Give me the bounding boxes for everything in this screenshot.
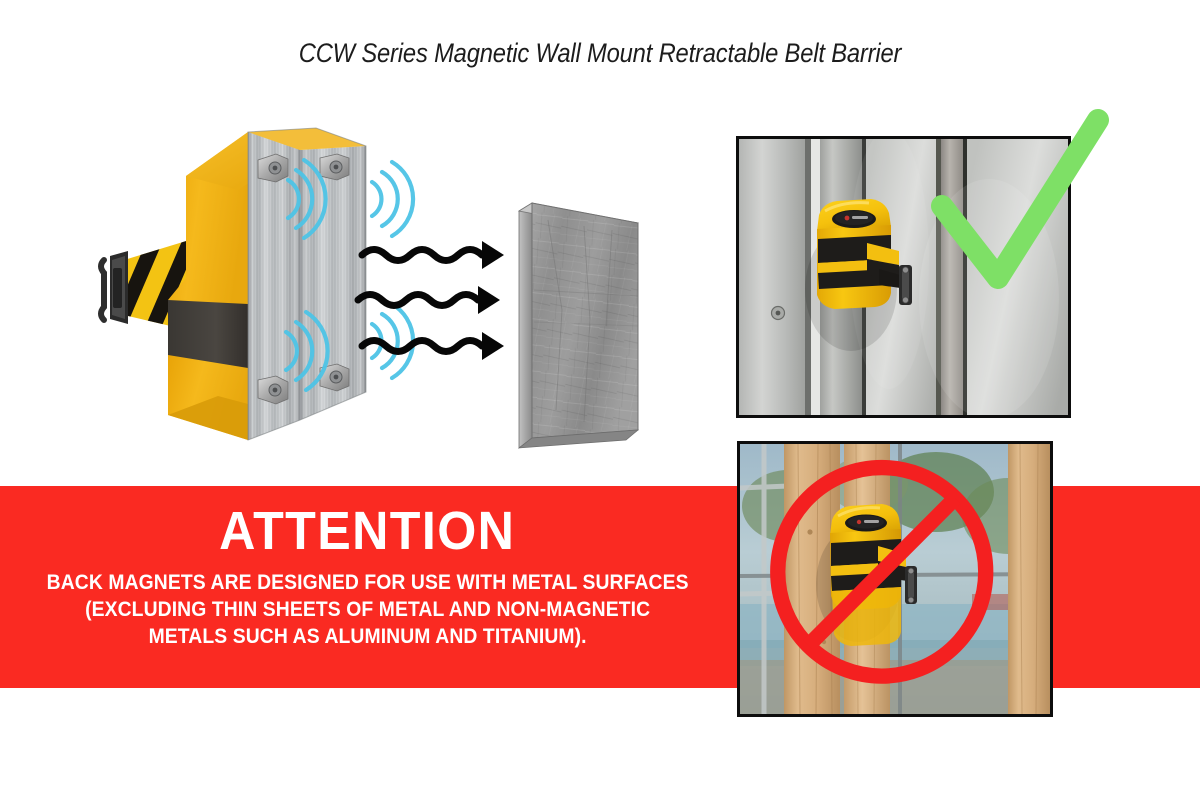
- target-metal-plate: [519, 203, 638, 448]
- correct-usage-photo: [736, 136, 1071, 418]
- attention-body: BACK MAGNETS ARE DESIGNED FOR USE WITH M…: [47, 569, 689, 650]
- infographic-page: CCW Series Magnetic Wall Mount Retractab…: [0, 0, 1200, 808]
- attention-heading: ATTENTION: [219, 502, 515, 560]
- attention-body-line-2: (EXCLUDING THIN SHEETS OF METAL AND NON-…: [47, 596, 689, 623]
- magnetic-attraction-diagram: [0, 110, 700, 480]
- incorrect-usage-photo: [737, 441, 1053, 717]
- page-title: CCW Series Magnetic Wall Mount Retractab…: [72, 38, 1128, 69]
- attention-body-line-1: BACK MAGNETS ARE DESIGNED FOR USE WITH M…: [47, 569, 689, 596]
- attention-body-line-3: METALS SUCH AS ALUMINUM AND TITANIUM).: [47, 623, 689, 650]
- attraction-arrows: [358, 241, 504, 360]
